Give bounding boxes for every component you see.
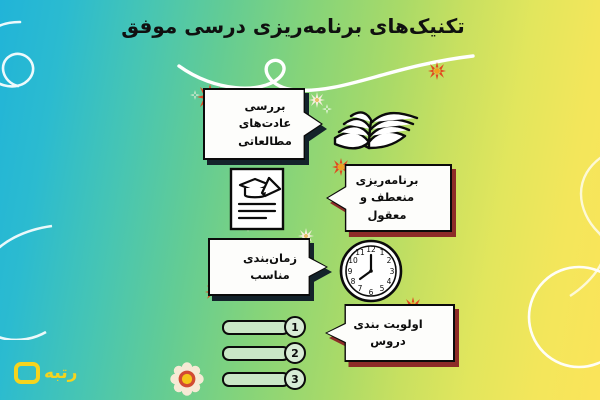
list-item[interactable]: 3 (222, 368, 306, 390)
flower-decoration-icon (170, 362, 204, 396)
svg-text:4: 4 (387, 277, 392, 286)
open-book-icon (325, 88, 429, 162)
list-item-bar (222, 346, 290, 361)
list-item-number: 1 (284, 316, 306, 338)
step-box-2[interactable]: برنامه‌ریزی منعطف و معقول (326, 164, 452, 232)
svg-text:9: 9 (348, 267, 353, 276)
svg-text:5: 5 (380, 284, 385, 293)
study-plan-document-icon (228, 166, 290, 232)
page-title: تکنیک‌های برنامه‌ریزی درسی موفق (0, 14, 600, 38)
step-box-1[interactable]: بررسی عادت‌های مطالعاتی (203, 88, 323, 160)
list-item-number: 3 (284, 368, 306, 390)
list-item-bar (222, 372, 290, 387)
circle-outline-decoration-icon (524, 262, 600, 372)
infographic-canvas: تکنیک‌های برنامه‌ریزی درسی موفق (0, 0, 600, 400)
list-item[interactable]: 1 (222, 316, 306, 338)
clock-icon: 12 1 2 3 4 5 6 7 8 9 10 11 (338, 238, 404, 304)
list-item-number: 2 (284, 342, 306, 364)
wave-decoration-icon (540, 150, 600, 300)
svg-text:6: 6 (369, 288, 374, 297)
sparkle-decoration-icon (190, 90, 200, 100)
rounded-square-icon (14, 362, 40, 384)
svg-text:2: 2 (387, 256, 392, 265)
list-item[interactable]: 2 (222, 342, 306, 364)
svg-text:12: 12 (366, 245, 376, 254)
brand-logo-text: رتبه (44, 365, 77, 382)
step-box-4[interactable]: اولویت بندی دروس (325, 304, 455, 362)
starburst-decoration-icon (428, 62, 446, 80)
svg-text:10: 10 (348, 256, 358, 265)
svg-text:7: 7 (358, 284, 363, 293)
arc-decoration-icon (0, 220, 80, 340)
list-item-bar (222, 320, 290, 335)
svg-text:11: 11 (355, 248, 365, 257)
svg-text:8: 8 (351, 277, 356, 286)
svg-text:3: 3 (390, 267, 395, 276)
brand-logo[interactable]: رتبه (14, 362, 77, 384)
svg-text:1: 1 (380, 248, 385, 257)
step-box-3[interactable]: زمان‌بندی مناسب (208, 238, 328, 296)
